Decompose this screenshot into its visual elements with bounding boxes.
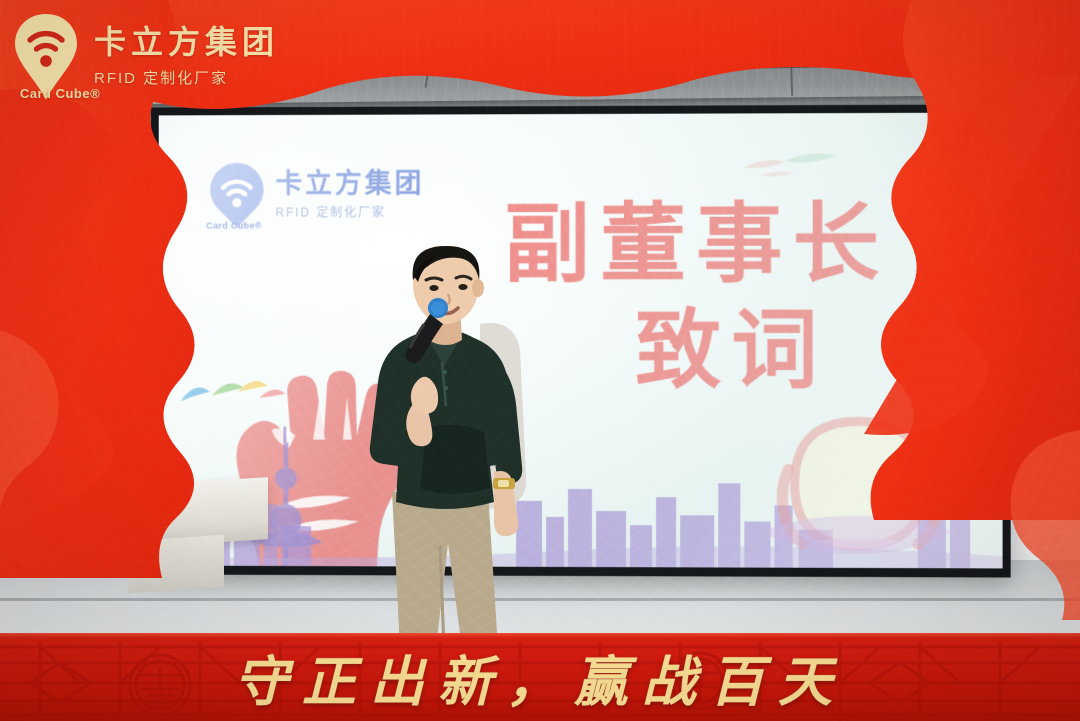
leaf-decoration-icon	[740, 145, 861, 185]
projected-slide: Card Cube® 卡立方集团 RFID 定制化厂家 副董事长	[159, 113, 1003, 569]
slogan-banner: 守正出新，赢战百天	[0, 633, 1080, 721]
photograph: Card Cube® 卡立方集团 RFID 定制化厂家 副董事长	[0, 0, 1080, 721]
brand-logo: Card Cube® 卡立方集团 RFID 定制化厂家	[10, 12, 279, 104]
slide-logo-tagline: RFID 定制化厂家	[275, 203, 424, 220]
brand-tagline: RFID 定制化厂家	[94, 67, 279, 88]
slide-logo: Card Cube® 卡立方集团 RFID 定制化厂家	[210, 162, 424, 228]
projection-screen: Card Cube® 卡立方集团 RFID 定制化厂家 副董事长	[151, 104, 1011, 577]
event-photo-poster: Card Cube® 卡立方集团 RFID 定制化厂家 副董事长	[0, 0, 1080, 721]
wifi-pin-icon: Card Cube®	[210, 163, 263, 229]
confetti-ribbons-icon	[177, 362, 296, 422]
slogan-text: 守正出新，赢战百天	[0, 638, 1080, 717]
lectern-base	[128, 535, 224, 594]
wifi-pin-logo-icon: Card Cube®	[10, 12, 82, 104]
slide-logo-mark: Card Cube®	[206, 221, 262, 231]
wifi-waves-icon	[210, 167, 263, 215]
chinese-drum-icon	[740, 413, 972, 564]
slide-logo-name: 卡立方集团	[275, 170, 424, 197]
headline-line-2: 致词	[506, 308, 958, 396]
wall-notice	[1024, 452, 1052, 508]
speaker-with-microphone	[330, 246, 560, 648]
brand-name: 卡立方集团	[94, 26, 279, 58]
brand-mark: Card Cube®	[12, 86, 108, 101]
